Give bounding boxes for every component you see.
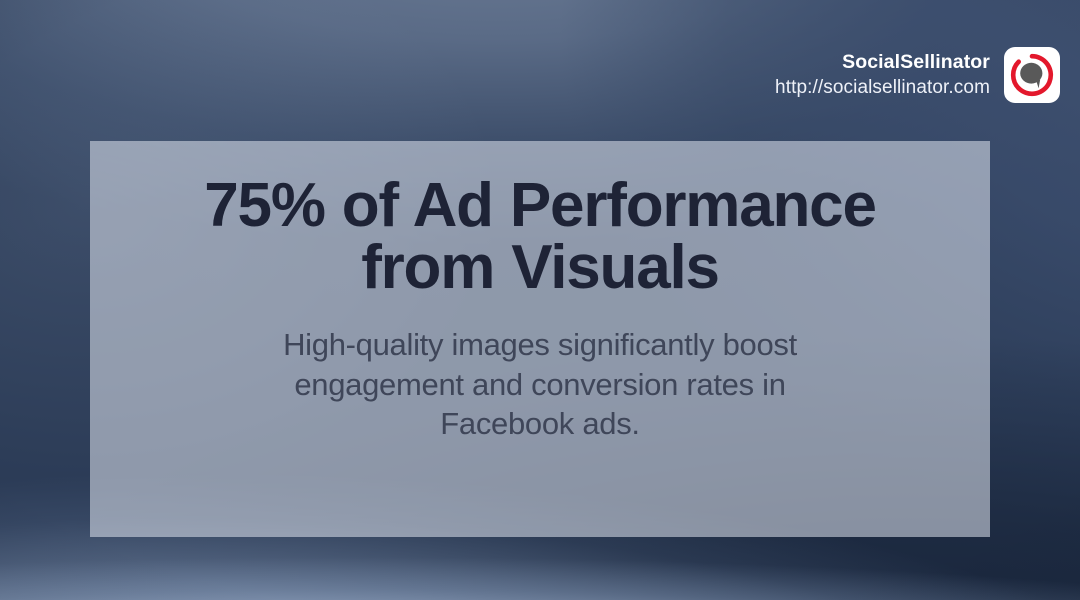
page-title: 75% of Ad Performance from Visuals bbox=[160, 141, 920, 299]
subtitle-text: High-quality images significantly boost … bbox=[190, 299, 890, 444]
brand-logo bbox=[1004, 47, 1060, 103]
content-panel: 75% of Ad Performance from Visuals High-… bbox=[90, 141, 990, 537]
content-panel-inner: 75% of Ad Performance from Visuals High-… bbox=[90, 141, 990, 444]
brand-block: SocialSellinator http://socialsellinator… bbox=[775, 47, 1060, 103]
social-media-poster: SocialSellinator http://socialsellinator… bbox=[0, 0, 1080, 600]
brand-text-group: SocialSellinator http://socialsellinator… bbox=[775, 51, 990, 99]
socialsellinator-logo-icon bbox=[1010, 53, 1054, 97]
brand-website-url[interactable]: http://socialsellinator.com bbox=[775, 77, 990, 99]
brand-name: SocialSellinator bbox=[842, 51, 990, 74]
